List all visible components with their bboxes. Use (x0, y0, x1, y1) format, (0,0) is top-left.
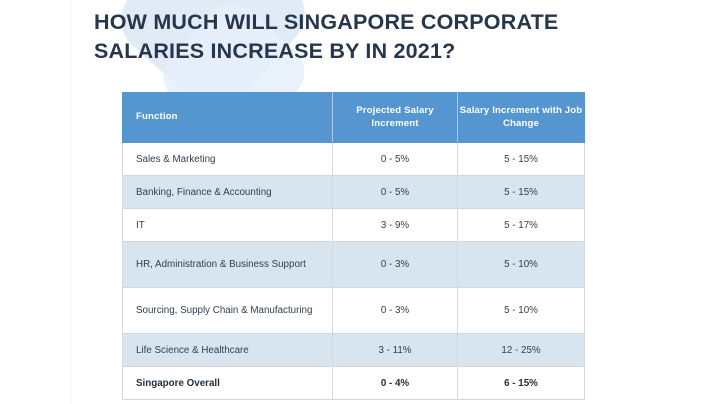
cell-function: IT (123, 209, 333, 242)
cell-job-change: 5 - 10% (458, 288, 585, 334)
cell-job-change: 6 - 15% (458, 367, 585, 400)
cell-function: HR, Administration & Business Support (123, 242, 333, 288)
table-row: Banking, Finance & Accounting 0 - 5% 5 -… (123, 176, 585, 209)
table-row: HR, Administration & Business Support 0 … (123, 242, 585, 288)
cell-projected: 0 - 5% (333, 176, 458, 209)
cell-projected: 3 - 9% (333, 209, 458, 242)
table-row: Sales & Marketing 0 - 5% 5 - 15% (123, 143, 585, 176)
salary-increment-table: Function Projected Salary Increment Sala… (122, 92, 585, 400)
table-body: Sales & Marketing 0 - 5% 5 - 15% Banking… (123, 143, 585, 400)
cell-projected: 0 - 3% (333, 242, 458, 288)
cell-job-change: 5 - 10% (458, 242, 585, 288)
cell-function: Sales & Marketing (123, 143, 333, 176)
table-header-row: Function Projected Salary Increment Sala… (123, 93, 585, 143)
cell-projected: 3 - 11% (333, 334, 458, 367)
table-row: Sourcing, Supply Chain & Manufacturing 0… (123, 288, 585, 334)
cell-job-change: 5 - 15% (458, 176, 585, 209)
column-header-salary-increment-with-job-change: Salary Increment with Job Change (458, 93, 585, 143)
table-row: IT 3 - 9% 5 - 17% (123, 209, 585, 242)
page-title: HOW MUCH WILL SINGAPORE CORPORATE SALARI… (94, 8, 614, 66)
cell-function: Banking, Finance & Accounting (123, 176, 333, 209)
cell-projected: 0 - 4% (333, 367, 458, 400)
cell-function: Life Science & Healthcare (123, 334, 333, 367)
table-header: Function Projected Salary Increment Sala… (123, 93, 585, 143)
cell-function: Sourcing, Supply Chain & Manufacturing (123, 288, 333, 334)
column-header-projected-salary-increment: Projected Salary Increment (333, 93, 458, 143)
cell-function: Singapore Overall (123, 367, 333, 400)
table-row: Life Science & Healthcare 3 - 11% 12 - 2… (123, 334, 585, 367)
cell-job-change: 5 - 17% (458, 209, 585, 242)
cell-projected: 0 - 5% (333, 143, 458, 176)
cell-projected: 0 - 3% (333, 288, 458, 334)
infographic-content: HOW MUCH WILL SINGAPORE CORPORATE SALARI… (0, 0, 720, 404)
cell-job-change: 12 - 25% (458, 334, 585, 367)
cell-job-change: 5 - 15% (458, 143, 585, 176)
column-header-function: Function (123, 93, 333, 143)
table-row-total: Singapore Overall 0 - 4% 6 - 15% (123, 367, 585, 400)
